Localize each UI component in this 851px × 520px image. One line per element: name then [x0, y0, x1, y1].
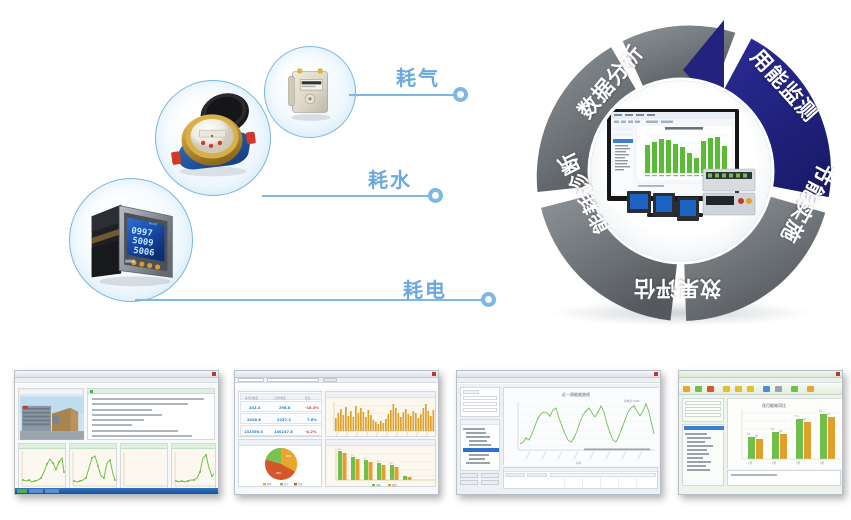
- gas-meter-icon: [265, 47, 355, 137]
- tree-row[interactable]: [469, 444, 491, 446]
- wheel-hub-image: [591, 81, 771, 261]
- shot1-chart-power[interactable]: [69, 443, 117, 489]
- water-label: 耗水: [368, 164, 412, 193]
- tree-row[interactable]: [687, 469, 710, 471]
- shot3-body: 近一周能耗曲线 用电量 (kWh): [457, 384, 660, 494]
- svg-text:用电量 (kWh): 用电量 (kWh): [624, 399, 640, 403]
- shot2-rank-bars[interactable]: 887262 5550 本期 同期: [325, 439, 436, 487]
- shot3-menubar[interactable]: [457, 378, 660, 383]
- close-icon[interactable]: [432, 372, 436, 376]
- shot1-titlebar: [15, 371, 218, 378]
- svg-text:72: 72: [351, 455, 354, 457]
- shot3-curve-chart[interactable]: 近一周能耗曲线 用电量 (kWh): [503, 387, 658, 465]
- monitor-software-icon: [591, 81, 771, 261]
- kpi-value-a: 2428.8: [247, 418, 261, 422]
- shot4-menubar[interactable]: [679, 378, 842, 383]
- table-col-divider: [600, 473, 601, 488]
- svg-text:2月: 2月: [772, 461, 777, 465]
- kpi-header-b: 上月用电量: [273, 396, 286, 400]
- water-connector-marker[interactable]: [428, 188, 443, 203]
- water-connector-line: [262, 195, 430, 197]
- poster-canvas: 0997 5009 5006 Acrel 耗气 耗水: [0, 0, 851, 520]
- svg-text:3月: 3月: [796, 461, 801, 465]
- energy-cycle-wheel: 用能监测 节能实施 效果评估 能耗诊断 数据分析: [528, 18, 834, 324]
- tree-row[interactable]: [687, 465, 706, 467]
- tree-row[interactable]: [466, 432, 486, 434]
- tree-row[interactable]: [463, 428, 485, 430]
- shot1-chart-water[interactable]: [18, 443, 66, 489]
- tree-row[interactable]: [469, 454, 489, 456]
- tree-row[interactable]: [687, 441, 705, 443]
- info-line: [92, 403, 188, 405]
- shot1-info-panel: [87, 388, 215, 440]
- svg-text:照明: 照明: [267, 482, 272, 486]
- tree-row[interactable]: [687, 457, 703, 459]
- tree-row[interactable]: [685, 433, 707, 435]
- shot4-bar-chart[interactable]: 逐月能耗同比 4240: [727, 398, 841, 468]
- shot2-kpi-panel: 本月用电量 上月用电量 同比 242.4 298.8 -18.3% 2428.8…: [238, 391, 322, 437]
- shot4-filter-panel[interactable]: [682, 398, 724, 422]
- shot3-titlebar: [457, 371, 660, 378]
- svg-text:88: 88: [338, 449, 341, 451]
- kpi-row: 242.4 298.8 -18.3%: [240, 401, 322, 412]
- tree-row[interactable]: [466, 436, 490, 438]
- kpi-value-b: 2257.2: [277, 418, 291, 422]
- shot1-chart-total[interactable]: [171, 443, 216, 489]
- info-line: [92, 414, 162, 416]
- shot1-body: [15, 384, 218, 494]
- shot2-trend-bars[interactable]: [325, 391, 436, 437]
- screenshot-report-bars[interactable]: 逐月能耗同比 4240: [678, 370, 843, 495]
- close-icon[interactable]: [836, 372, 840, 376]
- tree-row[interactable]: [687, 449, 707, 451]
- shot2-body: 本月用电量 上月用电量 同比 242.4 298.8 -18.3% 2428.8…: [235, 389, 438, 494]
- tree-row[interactable]: [687, 461, 711, 463]
- tree-row[interactable]: [687, 437, 711, 439]
- svg-text:空调: 空调: [298, 482, 303, 486]
- table-col-divider: [636, 473, 637, 488]
- kpi-pct: -4.2%: [305, 430, 316, 434]
- svg-text:1月: 1月: [748, 461, 753, 465]
- shot3-tree-panel[interactable]: [460, 419, 500, 471]
- tree-row[interactable]: [687, 453, 709, 455]
- kpi-header-c: 同比: [305, 396, 310, 400]
- kpi-pct: -18.3%: [305, 406, 319, 410]
- gas-connector-marker[interactable]: [453, 87, 468, 102]
- table-col-divider: [582, 473, 583, 488]
- svg-text:近一周能耗曲线: 近一周能耗曲线: [562, 391, 590, 397]
- kpi-header-a: 本月用电量: [245, 396, 258, 400]
- shot2-menubar[interactable]: [235, 378, 438, 383]
- table-col-divider: [618, 473, 619, 488]
- svg-text:逐月能耗同比: 逐月能耗同比: [762, 402, 786, 408]
- info-line: [92, 398, 204, 400]
- shot4-body: 逐月能耗同比 4240: [679, 384, 842, 494]
- kpi-row: 2428.8 2257.2 7.6%: [240, 413, 322, 424]
- info-line: [92, 419, 144, 421]
- water-meter-icon: [156, 81, 270, 195]
- power-meter-icon: 0997 5009 5006 Acrel: [70, 179, 192, 301]
- weekly-energy-curve: 近一周能耗曲线 用电量 (kWh): [504, 388, 659, 466]
- svg-text:50: 50: [390, 463, 393, 465]
- svg-text:62: 62: [364, 458, 367, 460]
- info-line: [92, 430, 178, 432]
- screenshot-energy-dashboard[interactable]: 本月用电量 上月用电量 同比 242.4 298.8 -18.3% 2428.8…: [234, 370, 439, 495]
- svg-text:时间: 时间: [576, 461, 582, 465]
- tree-row[interactable]: [469, 458, 485, 460]
- close-icon[interactable]: [654, 372, 658, 376]
- shot4-titlebar: [679, 371, 842, 378]
- kpi-row: 本月用电量 上月用电量 同比: [240, 393, 322, 400]
- shot1-photo-panel: [18, 388, 84, 440]
- shot2-pie-panel[interactable]: 46%48% 照明 动力 空调: [238, 439, 322, 487]
- power-connector-marker[interactable]: [481, 292, 496, 307]
- kpi-pct: 7.6%: [307, 418, 317, 422]
- info-line: [92, 409, 152, 411]
- shot2-titlebar: [235, 371, 438, 378]
- gas-label: 耗气: [396, 62, 440, 91]
- energy-composition-pie: 46%48% 照明 动力 空调: [239, 446, 323, 488]
- kpi-row: 132356.4 140147.8 -4.2%: [240, 425, 322, 436]
- shot3-action-buttons[interactable]: [460, 473, 500, 489]
- monthly-comparison-bars: 逐月能耗同比 4240: [728, 399, 842, 469]
- gas-meter-circle[interactable]: [264, 46, 356, 138]
- kpi-value-b: 298.8: [279, 406, 290, 410]
- screenshot-building-overview[interactable]: [14, 370, 219, 495]
- segment-label-effect-evaluation[interactable]: 效果评估: [633, 274, 721, 304]
- kpi-value-b: 140147.8: [274, 430, 293, 434]
- power-meter-circle[interactable]: 0997 5009 5006 Acrel: [69, 178, 193, 302]
- close-icon[interactable]: [212, 372, 216, 376]
- shot1-taskbar[interactable]: [15, 488, 218, 494]
- kpi-value-a: 242.4: [249, 406, 260, 410]
- screenshot-trend-curve[interactable]: 近一周能耗曲线 用电量 (kWh): [456, 370, 661, 495]
- info-line: [92, 424, 132, 426]
- tree-row[interactable]: [687, 445, 713, 447]
- shot4-footer-note: [727, 470, 841, 486]
- shot1-chart-gas[interactable]: [120, 443, 168, 489]
- shot4-toolbar[interactable]: [679, 384, 842, 395]
- shot1-menubar[interactable]: [15, 378, 218, 383]
- svg-text:同期: 同期: [392, 483, 397, 487]
- svg-text:46%: 46%: [286, 455, 292, 458]
- shot3-data-table[interactable]: [503, 467, 658, 489]
- note-line: [731, 474, 777, 476]
- svg-text:本期: 本期: [376, 483, 381, 487]
- info-line: [92, 435, 192, 437]
- svg-text:4月: 4月: [820, 461, 825, 465]
- svg-text:48%: 48%: [276, 472, 282, 475]
- tree-row[interactable]: [469, 440, 487, 442]
- svg-text:动力: 动力: [284, 482, 288, 486]
- building-photo: [20, 396, 84, 440]
- shot3-filter-panel[interactable]: [460, 387, 500, 417]
- gas-connector-line: [349, 94, 455, 96]
- tree-row[interactable]: [466, 462, 490, 464]
- table-col-divider: [564, 473, 565, 488]
- kpi-value-a: 132356.4: [244, 430, 263, 434]
- power-label: 耗电: [403, 274, 447, 303]
- shot4-tree-panel[interactable]: [682, 424, 724, 486]
